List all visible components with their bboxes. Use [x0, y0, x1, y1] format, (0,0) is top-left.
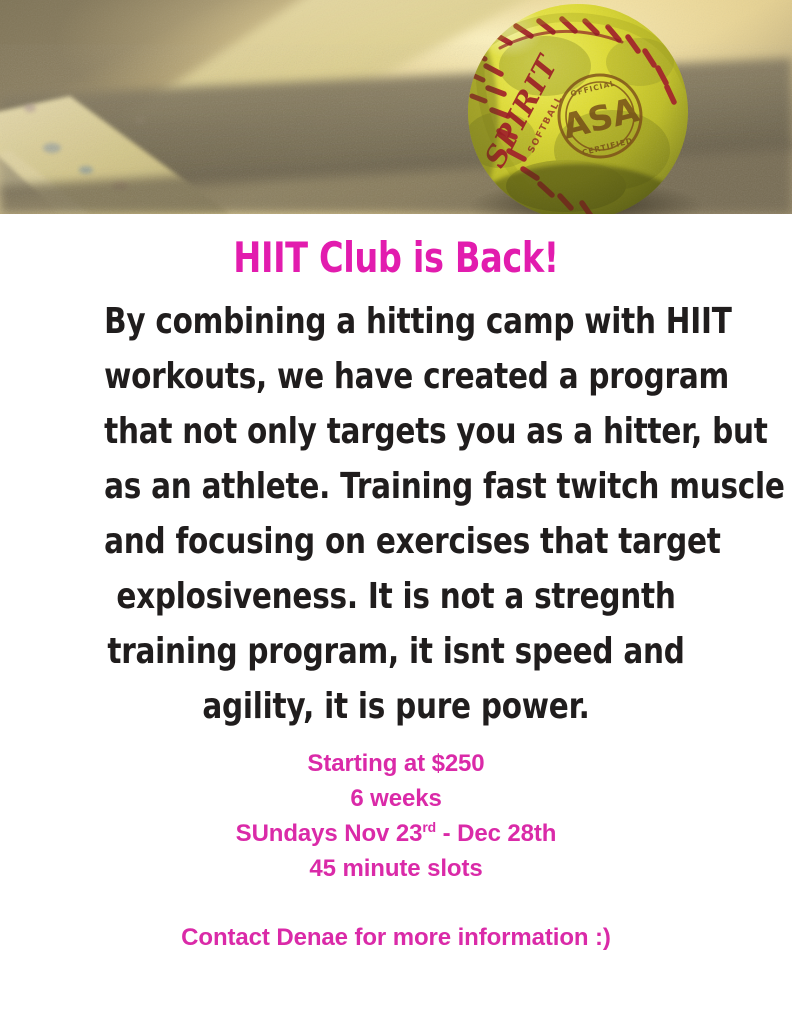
details-spacer [0, 886, 792, 920]
program-details-block: Starting at $250 6 weeks SUndays Nov 23r… [0, 734, 792, 955]
contact-line: Contact Denae for more information :) [0, 920, 792, 955]
flyer-page: SPIRIT SOFTBALL ASA OFFICIAL CERTIFIED [0, 0, 792, 1023]
detail-schedule: SUndays Nov 23rd - Dec 28th [0, 816, 792, 851]
body-line: explosiveness. It is not a stregnth [104, 569, 688, 624]
softball-field-photo: SPIRIT SOFTBALL ASA OFFICIAL CERTIFIED [0, 0, 792, 214]
flyer-content: HIIT Club is Back! By combining a hittin… [0, 214, 792, 955]
body-line: By combining a hitting camp with HIIT [104, 294, 688, 349]
detail-price: Starting at $250 [0, 746, 792, 781]
schedule-suffix: - Dec 28th [436, 820, 556, 847]
hero-photo-banner: SPIRIT SOFTBALL ASA OFFICIAL CERTIFIED [0, 0, 792, 214]
body-line: workouts, we have created a program [104, 349, 688, 404]
body-line: training program, it isnt speed and [104, 624, 688, 679]
body-line: agility, it is pure power. [104, 679, 688, 734]
page-title: HIIT Club is Back! [79, 214, 713, 284]
body-line: that not only targets you as a hitter, b… [104, 404, 688, 459]
body-copy-block: By combining a hitting camp with HIIT wo… [0, 284, 792, 734]
body-line: as an athlete. Training fast twitch musc… [104, 459, 688, 514]
detail-session-length: 45 minute slots [0, 851, 792, 886]
schedule-prefix: SUndays Nov 23 [236, 820, 423, 847]
body-line: and focusing on exercises that target [104, 514, 688, 569]
detail-duration: 6 weeks [0, 781, 792, 816]
asa-stamp: ASA OFFICIAL CERTIFIED [558, 75, 643, 157]
schedule-ordinal: rd [422, 819, 436, 835]
